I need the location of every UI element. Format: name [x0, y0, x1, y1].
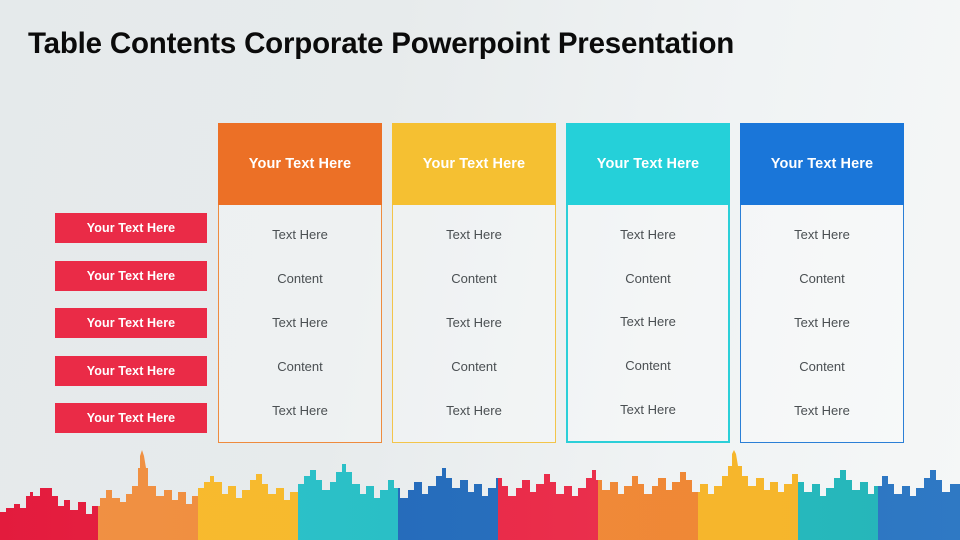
table-cell: Text Here — [568, 228, 728, 241]
row-label-2[interactable]: Your Text Here — [55, 261, 207, 291]
column-body-4: Text Here Content Text Here Content Text… — [740, 205, 904, 443]
table-cell: Text Here — [568, 315, 728, 328]
table-cell: Text Here — [219, 228, 381, 241]
row-label-5[interactable]: Your Text Here — [55, 403, 207, 433]
table-cell: Text Here — [568, 403, 728, 416]
column-body-3: Text Here Content Text Here Content Text… — [566, 205, 730, 443]
column-header-4[interactable]: Your Text Here — [740, 123, 904, 205]
table-cell: Text Here — [393, 404, 555, 417]
table-cell: Text Here — [393, 228, 555, 241]
table-cell: Content — [393, 360, 555, 373]
table-cell: Text Here — [393, 316, 555, 329]
table-column-3[interactable]: Your Text Here Text Here Content Text He… — [566, 123, 730, 443]
table-cell: Content — [219, 272, 381, 285]
table-cell: Content — [741, 272, 903, 285]
table-cell: Content — [219, 360, 381, 373]
table-cell: Text Here — [741, 404, 903, 417]
table-cell: Text Here — [219, 316, 381, 329]
row-label-4[interactable]: Your Text Here — [55, 356, 207, 386]
row-label-3[interactable]: Your Text Here — [55, 308, 207, 338]
page-title: Table Contents Corporate Powerpoint Pres… — [28, 26, 938, 63]
table-cell: Text Here — [219, 404, 381, 417]
row-label-column: Your Text Here Your Text Here Your Text … — [55, 213, 207, 433]
table-column-4[interactable]: Your Text Here Text Here Content Text He… — [740, 123, 904, 443]
table-cell: Content — [741, 360, 903, 373]
table-cell: Text Here — [741, 228, 903, 241]
table-cell: Content — [393, 272, 555, 285]
cityscape-skyline-icon — [0, 450, 960, 540]
table-cell: Text Here — [741, 316, 903, 329]
table-column-2[interactable]: Your Text Here Text Here Content Text He… — [392, 123, 556, 443]
slide-canvas: Table Contents Corporate Powerpoint Pres… — [0, 0, 960, 540]
column-header-3[interactable]: Your Text Here — [566, 123, 730, 205]
table-cell: Content — [568, 359, 728, 372]
column-body-2: Text Here Content Text Here Content Text… — [392, 205, 556, 443]
row-label-1[interactable]: Your Text Here — [55, 213, 207, 243]
table-column-1[interactable]: Your Text Here Text Here Content Text He… — [218, 123, 382, 443]
column-header-2[interactable]: Your Text Here — [392, 123, 556, 205]
table-columns: Your Text Here Text Here Content Text He… — [218, 123, 904, 443]
table-cell: Content — [568, 272, 728, 285]
column-body-1: Text Here Content Text Here Content Text… — [218, 205, 382, 443]
column-header-1[interactable]: Your Text Here — [218, 123, 382, 205]
